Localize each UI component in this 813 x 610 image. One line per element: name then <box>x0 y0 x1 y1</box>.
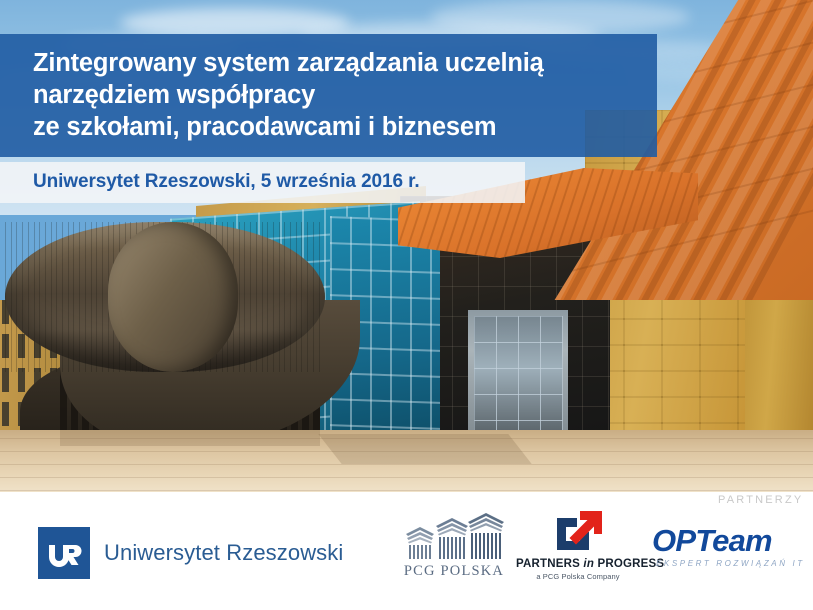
building-shadow <box>318 434 531 464</box>
logo-uniwersytet-rzeszowski[interactable]: Uniwersytet Rzeszowski <box>38 527 343 579</box>
title-line-3: ze szkołami, pracodawcami i biznesem <box>33 111 648 143</box>
poster-subtitle: Uniwersytet Rzeszowski, 5 września 2016 … <box>33 171 420 193</box>
door-glass-pane <box>474 368 497 395</box>
curtain-transom <box>330 398 440 403</box>
stone-tile <box>661 396 701 424</box>
tube-rib <box>5 222 6 372</box>
tube-rib <box>16 222 17 372</box>
stone-tile <box>699 370 739 398</box>
pip-logo-label: PARTNERS in PROGRESS <box>516 558 640 570</box>
door-glass-pane <box>518 394 541 421</box>
tube-rib <box>313 222 314 372</box>
curtain-mullion <box>430 220 432 445</box>
title-banner: Zintegrowany system zarządzania uczelnią… <box>0 34 657 157</box>
tube-rib <box>73 222 74 372</box>
tube-rib <box>22 222 23 372</box>
tube-rib <box>239 222 240 372</box>
door-glass-pane <box>540 394 563 421</box>
stone-tile <box>699 396 739 424</box>
curtain-mullion <box>390 218 392 443</box>
title-line-2: narzędziem współpracy <box>33 79 648 111</box>
tube-rib <box>62 222 63 372</box>
door-glass-pane <box>518 342 541 369</box>
tube-rib <box>45 222 46 372</box>
door-glass-pane <box>518 316 541 343</box>
stone-tile <box>623 370 663 398</box>
curtain-mullion <box>410 219 412 444</box>
tube-rib <box>11 222 12 372</box>
tube-rib <box>262 222 263 372</box>
tube-rib <box>39 222 40 372</box>
paving-line <box>0 477 813 478</box>
tube-rib <box>279 222 280 372</box>
tube-rib <box>68 222 69 372</box>
opteam-logo-label: OPTeam <box>652 524 792 558</box>
tube-rib <box>284 222 285 372</box>
tube-rib <box>290 222 291 372</box>
stone-tile <box>623 344 663 372</box>
door-glass-pane <box>474 394 497 421</box>
door-glass-pane <box>496 368 519 395</box>
plaza-ground <box>0 430 813 492</box>
door-glass-pane <box>496 394 519 421</box>
stone-tile <box>623 396 663 424</box>
pip-logo-tagline: a PCG Polska Company <box>516 572 640 581</box>
tube-rib <box>267 222 268 372</box>
partners-label: PARTNERZY <box>718 494 803 506</box>
door-glass-pane <box>474 342 497 369</box>
tube-rib <box>34 222 35 372</box>
tube-rib <box>85 222 86 372</box>
stone-tile <box>661 344 701 372</box>
curtain-transom <box>330 294 440 299</box>
logo-partners-in-progress[interactable]: PARTNERS in PROGRESS a PCG Polska Compan… <box>516 508 640 581</box>
door-glass-pane <box>540 316 563 343</box>
subtitle-banner: Uniwersytet Rzeszowski, 5 września 2016 … <box>0 162 525 203</box>
door-glass-pane <box>474 316 497 343</box>
door-glass-pane <box>496 342 519 369</box>
stone-tile <box>623 318 663 346</box>
poster-title: Zintegrowany system zarządzania uczelnią… <box>33 47 648 143</box>
event-poster: Zintegrowany system zarządzania uczelnią… <box>0 0 813 610</box>
ur-monogram-icon <box>38 527 90 579</box>
curtain-transom <box>330 424 440 429</box>
stone-tile <box>699 318 739 346</box>
tube-rib <box>273 222 274 372</box>
curtain-mullion <box>370 217 372 442</box>
tube-rib <box>250 222 251 372</box>
building-photo: Zintegrowany system zarządzania uczelnią… <box>0 0 813 492</box>
paving-line <box>0 490 813 491</box>
door-glass-pane <box>540 368 563 395</box>
tube-rib <box>79 222 80 372</box>
opteam-logo-tagline: EKSPERT ROZWIĄZAŃ IT <box>656 559 792 568</box>
stone-tile <box>661 370 701 398</box>
door-glass-pane <box>496 316 519 343</box>
cloud <box>430 0 690 34</box>
logo-opteam[interactable]: OPTeam EKSPERT ROZWIĄZAŃ IT <box>652 524 792 568</box>
tube-rib <box>51 222 52 372</box>
entrance-glass-doors <box>474 316 562 445</box>
tube-rib <box>96 222 97 372</box>
tube-rib <box>91 222 92 372</box>
pcg-logo-label: PCG POLSKA <box>398 563 510 580</box>
tube-rib <box>256 222 257 372</box>
stone-tile <box>661 318 701 346</box>
tube-rib <box>244 222 245 372</box>
ur-logo-label: Uniwersytet Rzeszowski <box>104 540 343 566</box>
paving-line <box>0 464 813 465</box>
logo-pcg-polska[interactable]: PCG POLSKA <box>398 512 510 580</box>
tube-rib <box>307 222 308 372</box>
tube-rib <box>28 222 29 372</box>
tube-shadow <box>60 430 320 446</box>
title-line-1: Zintegrowany system zarządzania uczelnią <box>33 47 648 79</box>
pip-label-part2: in <box>583 558 594 570</box>
tube-rib <box>301 222 302 372</box>
facade-window <box>2 402 9 426</box>
door-glass-pane <box>540 342 563 369</box>
bronze-tube-end-cap <box>108 222 238 372</box>
tube-rib <box>296 222 297 372</box>
curtain-transom <box>330 268 440 273</box>
pcg-columns-icon <box>398 512 510 562</box>
tube-rib <box>56 222 57 372</box>
tube-rib <box>102 222 103 372</box>
door-glass-pane <box>518 368 541 395</box>
stone-tile <box>699 344 739 372</box>
tube-rib <box>319 222 320 372</box>
partners-arrow-icon <box>516 508 640 556</box>
pip-label-part1: PARTNERS <box>516 558 580 570</box>
